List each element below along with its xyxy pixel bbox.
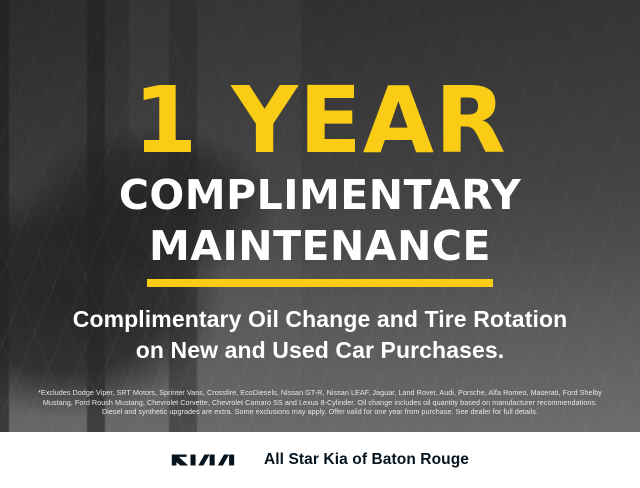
disclaimer-text: *Excludes Dodge Viper, SRT Motors, Sprin… [13, 388, 628, 417]
dealer-name-label: All Star Kia of Baton Rouge [264, 451, 469, 469]
subheadline-line2: on New and Used Car Purchases. [73, 335, 568, 366]
disclaimer-line-2: Mustang, Ford Roush Mustang, Chevrolet C… [13, 398, 628, 408]
disclaimer-line-3: Diesel and synthetic upgrades are extra.… [13, 407, 628, 417]
disclaimer-line-1: *Excludes Dodge Viper, SRT Motors, Sprin… [13, 388, 628, 398]
promo-banner: 1 YEAR COMPLIMENTARY MAINTENANCE Complim… [0, 0, 640, 488]
headline-secondary-line2: MAINTENANCE [149, 224, 491, 269]
headline-primary: 1 YEAR [133, 75, 507, 167]
kia-logo-icon [171, 449, 249, 471]
yellow-divider-rule [147, 279, 493, 287]
hero-section: 1 YEAR COMPLIMENTARY MAINTENANCE Complim… [0, 0, 640, 432]
dealer-footer: All Star Kia of Baton Rouge [0, 432, 640, 488]
subheadline-line1: Complimentary Oil Change and Tire Rotati… [73, 304, 568, 335]
headline-secondary-line1: COMPLIMENTARY [119, 173, 521, 218]
subheadline: Complimentary Oil Change and Tire Rotati… [73, 304, 568, 366]
hero-content: 1 YEAR COMPLIMENTARY MAINTENANCE Complim… [0, 0, 640, 432]
